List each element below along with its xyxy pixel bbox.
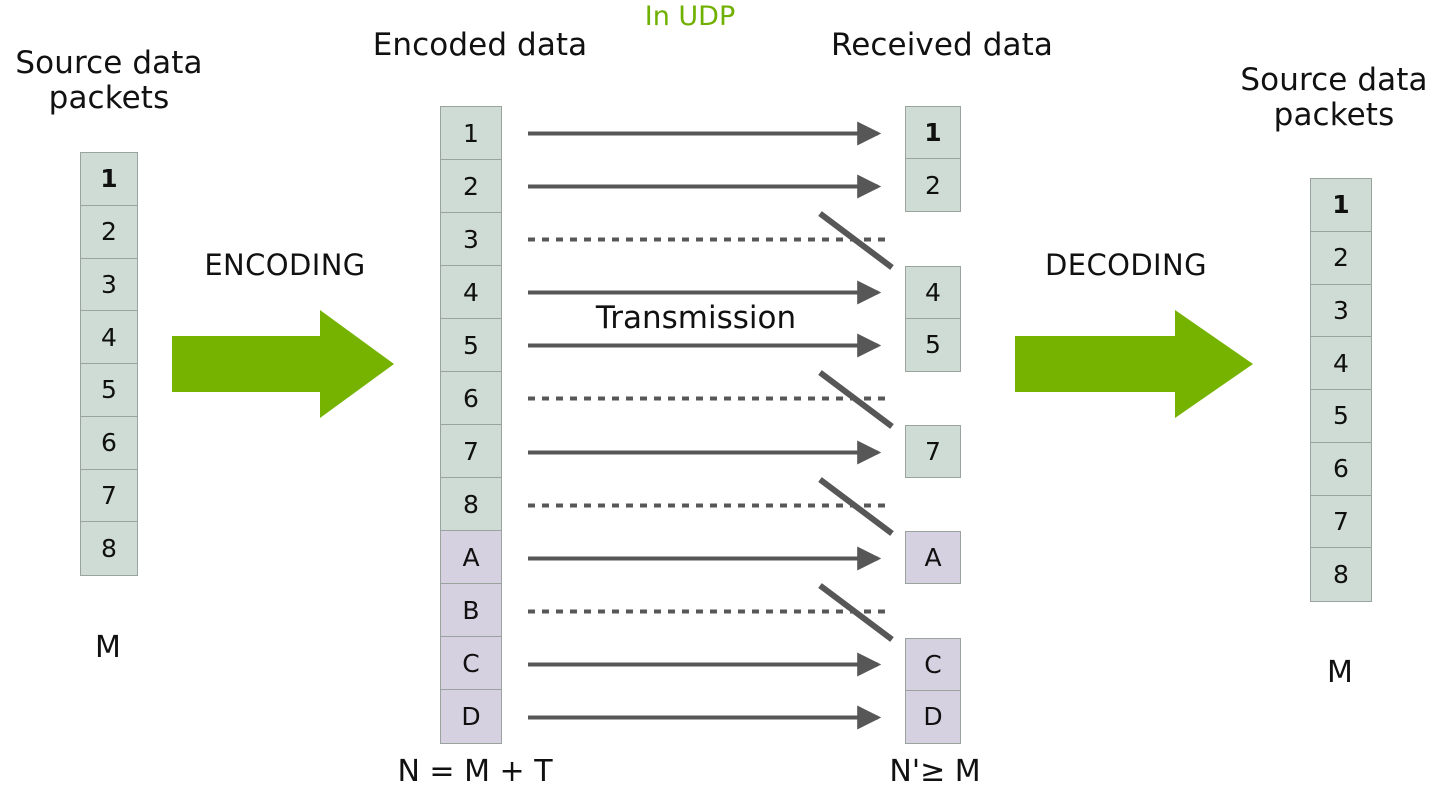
source-left-packet-cell: 4 <box>81 311 137 364</box>
source-right-packet-cell: 3 <box>1311 285 1371 338</box>
source-left-packet-cell: 8 <box>81 522 137 575</box>
encoded-packet-cell: 4 <box>441 266 501 319</box>
encoded-packets-column: 12345678ABCD <box>440 106 502 744</box>
transmission-lines-svg <box>520 106 900 744</box>
encoded-packet-cell: 5 <box>441 319 501 372</box>
encoded-packet-cell: 3 <box>441 213 501 266</box>
lost-line <box>528 586 892 640</box>
source-packets-column-left: 12345678 <box>80 152 138 576</box>
encoded-packet-cell: 2 <box>441 160 501 213</box>
received-packet-group: 12 <box>905 106 961 212</box>
source-left-packet-cell: 3 <box>81 259 137 312</box>
footer-label-encoded: N = M + T <box>380 754 570 789</box>
encoded-packet-cell: 1 <box>441 107 501 160</box>
received-packet-cell: A <box>906 532 960 583</box>
encoded-packet-cell: A <box>441 531 501 584</box>
source-right-packet-cell: 6 <box>1311 443 1371 496</box>
received-packet-cell: D <box>906 691 960 743</box>
transmission-label: Transmission <box>578 300 814 336</box>
source-left-packet-cell: 2 <box>81 206 137 259</box>
heading-received-data: Received data <box>810 28 1074 63</box>
encoded-packet-cell: 8 <box>441 478 501 531</box>
received-packet-group: A <box>905 531 961 584</box>
received-packet-group: 45 <box>905 266 961 372</box>
lost-line <box>528 480 892 534</box>
diagram-canvas: In UDP Source data packets Encoded data … <box>0 0 1440 800</box>
source-right-packet-cell: 7 <box>1311 496 1371 549</box>
source-left-packet-cell: 7 <box>81 470 137 523</box>
source-right-packet-cell: 1 <box>1311 179 1371 232</box>
encoded-packet-cell: D <box>441 690 501 743</box>
encoding-arrow-icon <box>172 310 394 422</box>
source-left-packet-cell: 5 <box>81 364 137 417</box>
source-left-packet-cell: 1 <box>81 153 137 206</box>
heading-source-data-packets-right: Source data packets <box>1228 63 1440 132</box>
received-packet-group: 7 <box>905 425 961 478</box>
received-packet-cell: 2 <box>906 159 960 211</box>
received-packet-cell: 5 <box>906 319 960 371</box>
footer-label-source-left: M <box>58 630 158 665</box>
received-packet-cell: 7 <box>906 426 960 477</box>
source-right-packet-cell: 8 <box>1311 548 1371 601</box>
footer-label-received: N'≥ M <box>845 754 1025 789</box>
transmission-lines-group <box>520 106 900 744</box>
lost-line <box>528 214 892 268</box>
encoded-packet-cell: 7 <box>441 425 501 478</box>
lost-line <box>528 373 892 427</box>
decoding-process-label: DECODING <box>1010 248 1242 282</box>
received-packet-group: CD <box>905 638 961 744</box>
received-packet-cell: 1 <box>906 107 960 159</box>
heading-encoded-data: Encoded data <box>350 28 610 63</box>
encoded-packet-cell: 6 <box>441 372 501 425</box>
heading-source-data-packets-left: Source data packets <box>0 46 218 115</box>
decoding-arrow-icon <box>1015 310 1253 422</box>
source-right-packet-cell: 2 <box>1311 232 1371 285</box>
encoding-process-label: ENCODING <box>170 248 400 282</box>
source-right-packet-cell: 5 <box>1311 390 1371 443</box>
received-packet-cell: C <box>906 639 960 691</box>
received-packets-column: 12457ACD <box>905 106 961 744</box>
source-left-packet-cell: 6 <box>81 417 137 470</box>
received-packet-cell: 4 <box>906 267 960 319</box>
encoded-packet-cell: B <box>441 584 501 637</box>
source-right-packet-cell: 4 <box>1311 337 1371 390</box>
source-packets-column-right: 12345678 <box>1310 178 1372 602</box>
footer-label-source-right: M <box>1290 655 1390 690</box>
encoded-packet-cell: C <box>441 637 501 690</box>
